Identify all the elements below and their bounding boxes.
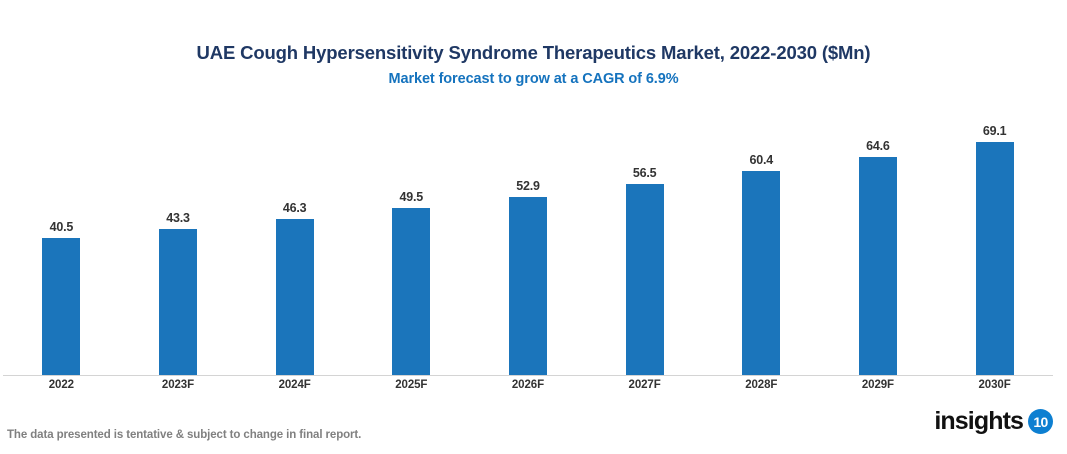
x-axis-tick-label: 2022 (3, 379, 119, 391)
bar-group: 69.1 (937, 100, 1053, 375)
bar-value-label: 43.3 (166, 211, 190, 225)
bar-value-label: 46.3 (283, 201, 307, 215)
x-axis-tick-label: 2027F (587, 379, 703, 391)
bar-group: 40.5 (3, 100, 119, 375)
chart-page: UAE Cough Hypersensitivity Syndrome Ther… (0, 0, 1067, 454)
bar[interactable] (859, 157, 897, 375)
chart-title: UAE Cough Hypersensitivity Syndrome Ther… (0, 42, 1067, 64)
x-axis-tick-labels: 20222023F2024F2025F2026F2027F2028F2029F2… (3, 379, 1053, 391)
bar-group: 49.5 (353, 100, 469, 375)
bar-group: 52.9 (470, 100, 586, 375)
bar[interactable] (509, 197, 547, 375)
bar-value-label: 64.6 (866, 139, 890, 153)
x-axis-tick-label: 2030F (937, 379, 1053, 391)
x-axis-tick-label: 2026F (470, 379, 586, 391)
bar-group: 46.3 (237, 100, 353, 375)
x-axis-tick-label: 2024F (237, 379, 353, 391)
bar[interactable] (976, 142, 1014, 375)
bar[interactable] (626, 184, 664, 375)
bar[interactable] (276, 219, 314, 375)
x-axis-tick-label: 2023F (120, 379, 236, 391)
bar[interactable] (392, 208, 430, 375)
logo-wordmark: insights (934, 409, 1023, 434)
bar-value-label: 60.4 (750, 153, 774, 167)
bar-value-label: 49.5 (400, 190, 424, 204)
bar-group: 43.3 (120, 100, 236, 375)
bar[interactable] (42, 238, 80, 375)
bar[interactable] (159, 229, 197, 375)
bar-group: 60.4 (703, 100, 819, 375)
x-axis-tick-label: 2025F (353, 379, 469, 391)
chart-subtitle: Market forecast to grow at a CAGR of 6.9… (0, 71, 1067, 87)
x-axis-line (3, 375, 1053, 376)
logo-badge-icon: 10 (1028, 409, 1053, 434)
bar-value-label: 40.5 (50, 220, 74, 234)
bar-group: 56.5 (587, 100, 703, 375)
bar[interactable] (742, 171, 780, 375)
plot-area: 40.543.346.349.552.956.560.464.669.1 (0, 100, 1067, 377)
insights10-logo: insights 10 (934, 409, 1053, 434)
x-axis-tick-label: 2028F (703, 379, 819, 391)
bar-series: 40.543.346.349.552.956.560.464.669.1 (3, 100, 1053, 375)
bar-value-label: 52.9 (516, 179, 540, 193)
bar-group: 64.6 (820, 100, 936, 375)
bar-value-label: 69.1 (983, 124, 1007, 138)
bar-value-label: 56.5 (633, 166, 657, 180)
disclaimer-text: The data presented is tentative & subjec… (7, 429, 361, 441)
x-axis-tick-label: 2029F (820, 379, 936, 391)
